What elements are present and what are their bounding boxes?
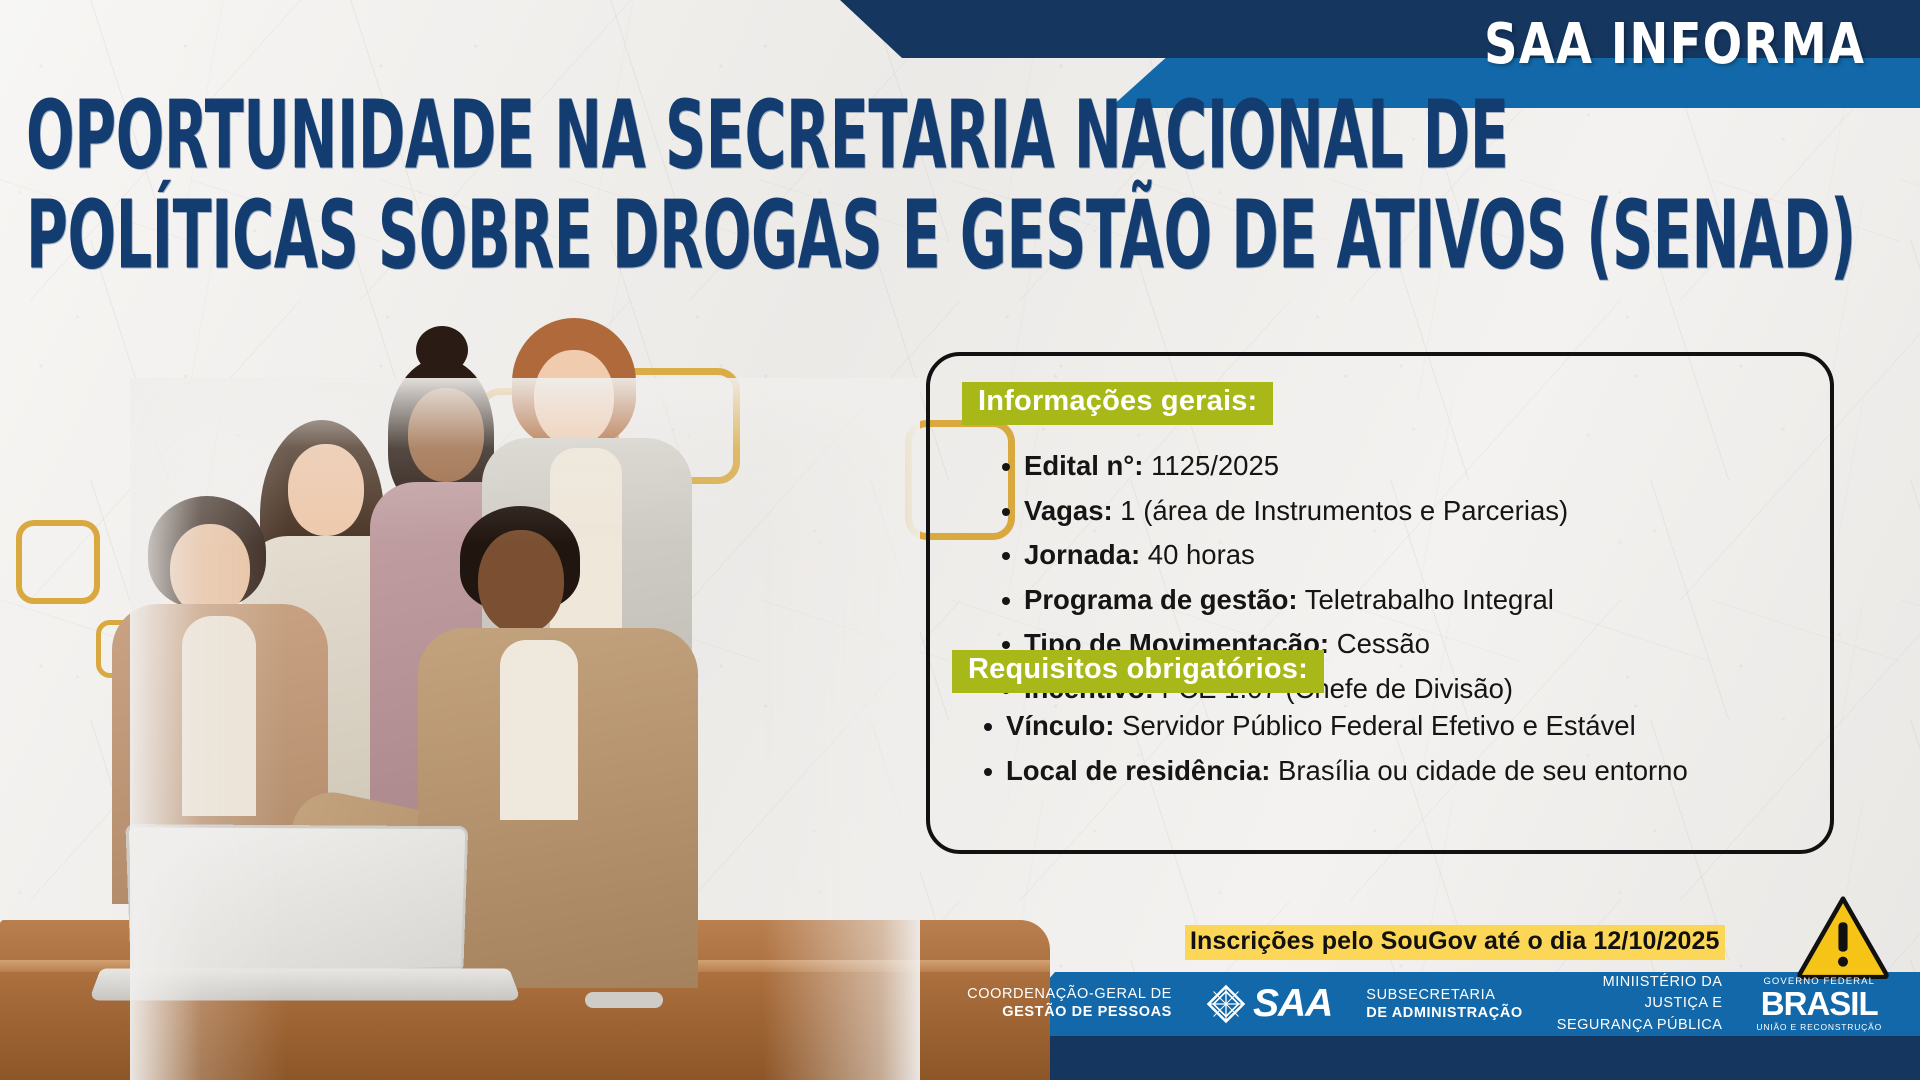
- poster-canvas: SAA INFORMA OPORTUNIDADE NA SECRETARIA N…: [0, 0, 1920, 1080]
- list-item: Programa de gestão: Teletrabalho Integra…: [988, 586, 1568, 614]
- section-title-general: Informações gerais:: [962, 382, 1273, 425]
- gold-square-decoration: [16, 520, 100, 604]
- subsecretaria-line-1: SUBSECRETARIA: [1366, 986, 1522, 1004]
- warning-triangle-icon: [1797, 895, 1889, 979]
- item-value: Cessão: [1329, 628, 1430, 659]
- saa-logo: SAA: [1206, 982, 1332, 1026]
- cggp-label: COORDENAÇÃO-GERAL DE GESTÃO DE PESSOAS: [967, 986, 1172, 1021]
- ministry-label: MINIISTÉRIO DA JUSTIÇA E SEGURANÇA PÚBLI…: [1557, 972, 1723, 1035]
- deadline-banner: Inscrições pelo SouGov até o dia 12/10/2…: [1185, 925, 1725, 960]
- page-title-line-2: POLÍTICAS SOBRE DROGAS E GESTÃO DE ATIVO…: [26, 188, 1488, 283]
- person-head: [288, 444, 364, 536]
- item-label: Programa de gestão:: [1024, 584, 1298, 615]
- item-value: 1 (área de Instrumentos e Parcerias): [1113, 495, 1568, 526]
- list-item: Local de residência: Brasília ou cidade …: [970, 757, 1688, 785]
- item-label: Vagas:: [1024, 495, 1113, 526]
- ministry-line-2: JUSTIÇA E: [1557, 993, 1723, 1014]
- laptop-trackpad: [585, 992, 663, 1008]
- page-title-line-1: OPORTUNIDADE NA SECRETARIA NACIONAL DE: [26, 88, 1488, 183]
- cggp-line-1: COORDENAÇÃO-GERAL DE: [967, 986, 1172, 1004]
- requirements-list: Vínculo: Servidor Público Federal Efetiv…: [970, 712, 1688, 801]
- list-item: Vínculo: Servidor Público Federal Efetiv…: [970, 712, 1688, 740]
- saa-diamond-icon: [1206, 984, 1246, 1024]
- brasil-bottom-label: UNIÃO E RECONSTRUÇÃO: [1756, 1022, 1882, 1032]
- item-value: Servidor Público Federal Efetivo e Estáv…: [1114, 710, 1635, 741]
- item-value: Teletrabalho Integral: [1298, 584, 1554, 615]
- saa-informa-badge: SAA INFORMA: [1484, 12, 1865, 77]
- saa-wordmark: SAA: [1253, 982, 1332, 1026]
- subsecretaria-label: SUBSECRETARIA DE ADMINISTRAÇÃO: [1366, 986, 1522, 1022]
- person-head: [534, 350, 614, 446]
- list-item: Jornada: 40 horas: [988, 541, 1568, 569]
- information-card: Informações gerais: Edital n°: 1125/2025…: [926, 352, 1834, 854]
- person-head: [170, 524, 250, 616]
- person-shirt: [500, 640, 578, 820]
- person-head: [478, 530, 564, 634]
- laptop-screen: [125, 824, 468, 981]
- brasil-logo: GOVERNO FEDERAL BRASIL UNIÃO E RECONSTRU…: [1756, 976, 1882, 1031]
- list-item: Vagas: 1 (área de Instrumentos e Parceri…: [988, 497, 1568, 525]
- team-photo: [130, 378, 920, 1080]
- item-value: 1125/2025: [1143, 450, 1279, 481]
- item-label: Edital n°:: [1024, 450, 1143, 481]
- item-label: Vínculo:: [1006, 710, 1114, 741]
- subsecretaria-line-2: DE ADMINISTRAÇÃO: [1366, 1004, 1522, 1022]
- item-value: Brasília ou cidade de seu entorno: [1270, 755, 1687, 786]
- item-label: Jornada:: [1024, 539, 1140, 570]
- section-title-requirements: Requisitos obrigatórios:: [952, 650, 1324, 693]
- cggp-line-2: GESTÃO DE PESSOAS: [967, 1004, 1172, 1022]
- item-label: Local de residência:: [1006, 755, 1270, 786]
- page-title: OPORTUNIDADE NA SECRETARIA NACIONAL DE P…: [26, 88, 1726, 288]
- laptop-keyboard: [89, 969, 521, 1001]
- ministry-line-3: SEGURANÇA PÚBLICA: [1557, 1015, 1723, 1036]
- footer-logos: COORDENAÇÃO-GERAL DE GESTÃO DE PESSOAS S…: [967, 972, 1882, 1036]
- item-value: 40 horas: [1140, 539, 1255, 570]
- ministry-line-1: MINIISTÉRIO DA: [1557, 972, 1723, 993]
- person-shirt: [182, 616, 256, 816]
- list-item: Edital n°: 1125/2025: [988, 452, 1568, 480]
- person-head: [408, 388, 484, 482]
- brasil-wordmark: BRASIL: [1756, 988, 1882, 1019]
